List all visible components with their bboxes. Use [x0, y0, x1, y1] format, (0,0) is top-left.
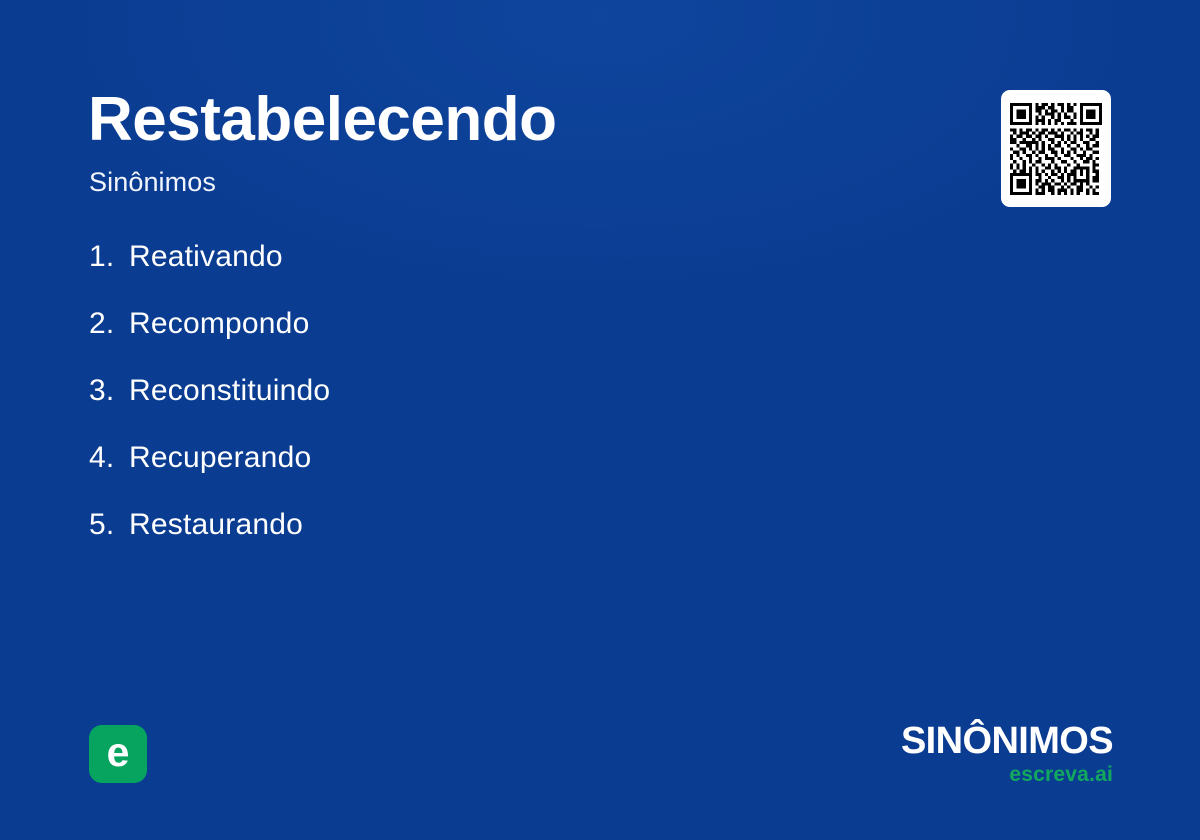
list-item-index: 5. [89, 506, 129, 544]
page-subtitle: Sinônimos [89, 167, 216, 198]
list-item-index: 2. [89, 305, 129, 343]
escreva-app-icon[interactable]: e [89, 725, 147, 783]
brand-tagline: escreva.ai [901, 764, 1113, 785]
list-item: 2.Recompondo [89, 305, 330, 372]
app-badge-letter: e [107, 732, 130, 773]
qr-code[interactable] [1001, 90, 1111, 207]
list-item-label: Recompondo [129, 307, 309, 340]
list-item-label: Reativando [129, 240, 283, 273]
list-item: 1.Reativando [89, 238, 330, 305]
synonym-list: 1.Reativando 2.Recompondo 3.Reconstituin… [89, 238, 330, 573]
brand-name: SINÔNIMOS [901, 722, 1113, 760]
qr-code-icon [1010, 103, 1102, 195]
list-item-index: 1. [89, 238, 129, 276]
page-title: Restabelecendo [88, 88, 557, 151]
list-item-label: Reconstituindo [129, 374, 330, 407]
list-item: 3.Reconstituindo [89, 372, 330, 439]
list-item: 5.Restaurando [89, 506, 330, 573]
synonym-card: Restabelecendo Sinônimos 1.Reativando 2.… [0, 0, 1200, 840]
list-item: 4.Recuperando [89, 439, 330, 506]
list-item-index: 3. [89, 372, 129, 410]
list-item-label: Recuperando [129, 441, 311, 474]
brand-logo: SINÔNIMOS escreva.ai [901, 722, 1113, 785]
list-item-label: Restaurando [129, 508, 303, 541]
list-item-index: 4. [89, 439, 129, 477]
